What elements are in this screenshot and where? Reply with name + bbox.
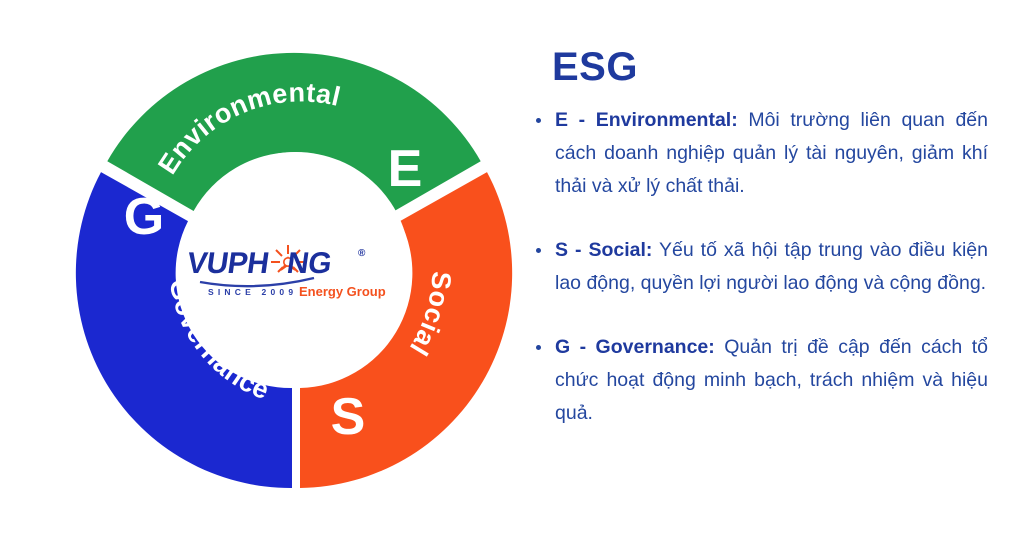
- logo-since-text: SINCE 2009: [208, 287, 297, 297]
- esg-definition-list: E - Environmental: Môi trường liên quan …: [528, 104, 988, 430]
- bullet-marker-icon: [536, 118, 541, 123]
- bullet-term: E - Environmental:: [555, 109, 738, 131]
- logo-word-part1: VUPH: [185, 247, 271, 280]
- logo-word-part2: NG: [285, 247, 334, 280]
- esg-infographic-page: E S G Environmental Social Governance VU…: [0, 0, 1024, 533]
- list-item: G - Governance: Quản trị đề cập đến cách…: [528, 331, 988, 430]
- segment-letter-S: S: [331, 388, 366, 446]
- bullet-marker-icon: [536, 248, 541, 253]
- bullet-term: S - Social:: [555, 239, 652, 261]
- segment-letter-E: E: [388, 140, 423, 198]
- bullet-term: G - Governance:: [555, 336, 715, 358]
- page-title: ESG: [552, 44, 988, 90]
- esg-donut-diagram: E S G Environmental Social Governance VU…: [56, 16, 536, 516]
- bullet-marker-icon: [536, 345, 541, 350]
- segment-letter-G: G: [124, 188, 164, 246]
- logo-registered-mark: ®: [358, 248, 366, 259]
- logo-tagline: Energy Group: [299, 284, 386, 299]
- list-item: S - Social: Yếu tố xã hội tập trung vào …: [528, 234, 988, 300]
- esg-text-panel: ESG E - Environmental: Môi trường liên q…: [528, 44, 988, 430]
- list-item: E - Environmental: Môi trường liên quan …: [528, 104, 988, 203]
